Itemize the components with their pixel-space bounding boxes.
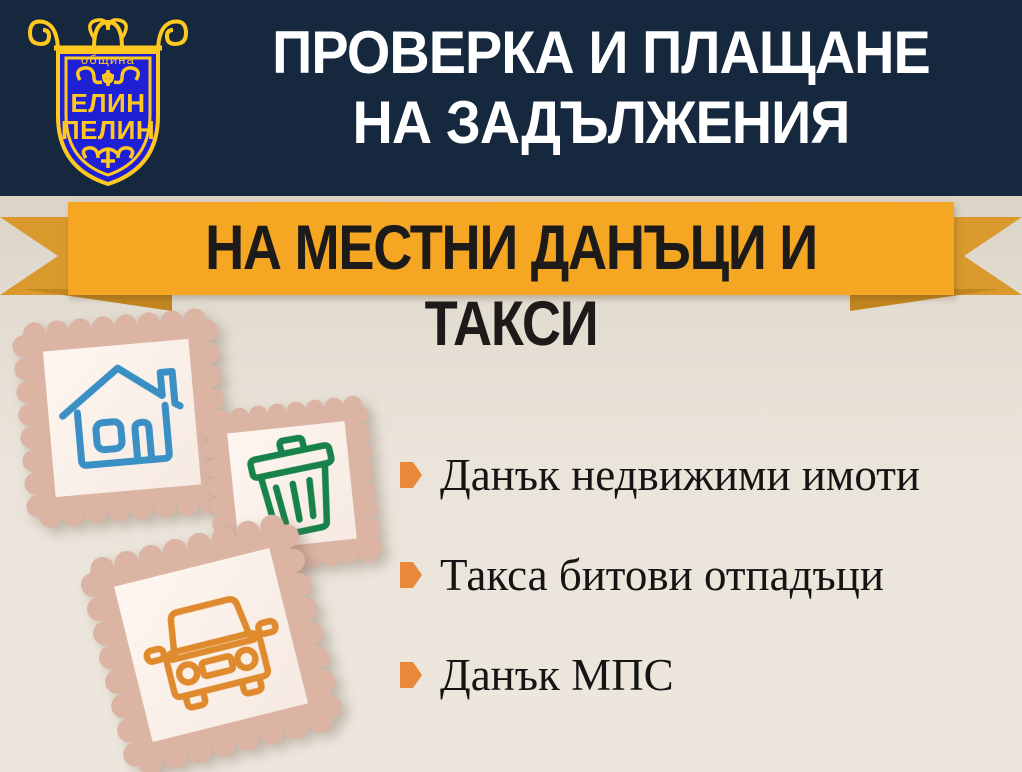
list-item-label: Данък недвижими имоти: [440, 449, 920, 501]
poster-root: ПРОВЕРКА И ПЛАЩАНЕ НА ЗАДЪЛЖЕНИЯ община: [0, 0, 1022, 772]
arrow-bullet-icon: [400, 662, 422, 688]
list-item: Данък МПС: [400, 625, 1012, 725]
ribbon-banner: НА МЕСТНИ ДАНЪЦИ И ТАКСИ: [0, 196, 1022, 306]
arrow-bullet-icon: [400, 562, 422, 588]
arrow-bullet-icon: [400, 462, 422, 488]
crest-name-line1: ЕЛИН: [70, 88, 145, 118]
crest-icon: община ЕЛИН ПЕЛИН: [24, 8, 192, 188]
crest-name-line2: ПЕЛИН: [61, 115, 155, 145]
list-item: Данък недвижими имоти: [400, 425, 1012, 525]
list-item-label: Данък МПС: [440, 649, 674, 701]
list-item: Такса битови отпадъци: [400, 525, 1012, 625]
ribbon-band: НА МЕСТНИ ДАНЪЦИ И ТАКСИ: [68, 202, 954, 295]
tax-type-list: Данък недвижими имоти Такса битови отпад…: [400, 425, 1012, 725]
list-item-label: Такса битови отпадъци: [440, 549, 884, 601]
page-title: ПРОВЕРКА И ПЛАЩАНЕ НА ЗАДЪЛЖЕНИЯ: [219, 18, 983, 158]
municipality-logo: община ЕЛИН ПЕЛИН: [24, 8, 192, 188]
ribbon-subtitle: НА МЕСТНИ ДАНЪЦИ И ТАКСИ: [130, 210, 892, 362]
crest-top-label: община: [81, 52, 135, 67]
